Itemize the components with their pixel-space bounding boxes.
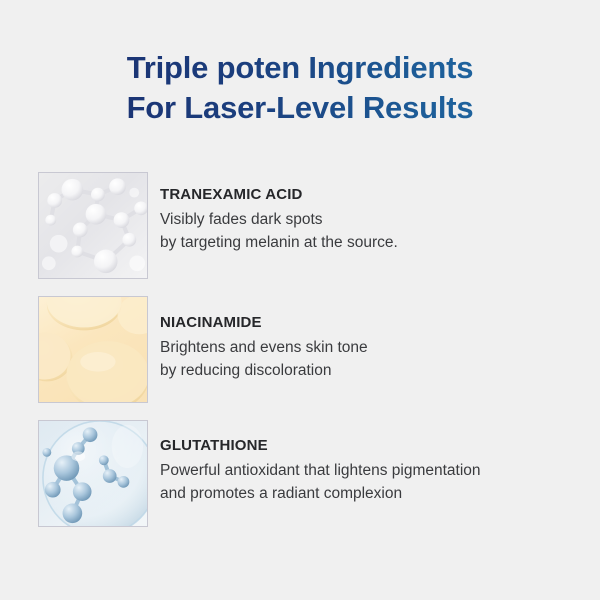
ingredient-description-line-2: by targeting melanin at the source. bbox=[160, 231, 580, 254]
ingredient-image-tranexamic-acid bbox=[38, 172, 148, 279]
ingredient-description-line-1: Visibly fades dark spots bbox=[160, 208, 580, 231]
ingredient-title: NIACINAMIDE bbox=[160, 313, 580, 333]
ingredient-description: Brightens and evens skin tone by reducin… bbox=[160, 336, 580, 382]
molecule-white-icon bbox=[39, 173, 147, 278]
molecule-blue-sphere-icon bbox=[39, 421, 147, 526]
ingredient-description: Powerful antioxidant that lightens pigme… bbox=[160, 459, 580, 505]
page-title-line-1: Triple poten Ingredients bbox=[0, 48, 600, 88]
ingredient-description-line-2: and promotes a radiant complexion bbox=[160, 482, 580, 505]
ingredient-description-line-1: Powerful antioxidant that lightens pigme… bbox=[160, 459, 580, 482]
ingredient-item-tranexamic-acid: TRANEXAMIC ACID Visibly fades dark spots… bbox=[0, 172, 600, 279]
ingredient-copy-niacinamide: NIACINAMIDE Brightens and evens skin ton… bbox=[160, 313, 580, 382]
promo-page: Triple poten Ingredients For Laser-Level… bbox=[0, 0, 600, 600]
ingredient-image-niacinamide bbox=[38, 296, 148, 403]
page-title-line-2: For Laser-Level Results bbox=[0, 88, 600, 128]
ingredient-title: TRANEXAMIC ACID bbox=[160, 185, 580, 205]
ingredient-list: TRANEXAMIC ACID Visibly fades dark spots… bbox=[0, 172, 600, 544]
ingredient-title: GLUTATHIONE bbox=[160, 436, 580, 456]
serum-droplets-icon bbox=[39, 297, 147, 402]
ingredient-image-glutathione bbox=[38, 420, 148, 527]
ingredient-copy-glutathione: GLUTATHIONE Powerful antioxidant that li… bbox=[160, 436, 580, 505]
ingredient-description-line-2: by reducing discoloration bbox=[160, 359, 580, 382]
ingredient-description-line-1: Brightens and evens skin tone bbox=[160, 336, 580, 359]
ingredient-copy-tranexamic-acid: TRANEXAMIC ACID Visibly fades dark spots… bbox=[160, 185, 580, 254]
ingredient-item-niacinamide: NIACINAMIDE Brightens and evens skin ton… bbox=[0, 296, 600, 403]
page-title: Triple poten Ingredients For Laser-Level… bbox=[0, 48, 600, 128]
ingredient-item-glutathione: GLUTATHIONE Powerful antioxidant that li… bbox=[0, 420, 600, 527]
ingredient-description: Visibly fades dark spots by targeting me… bbox=[160, 208, 580, 254]
